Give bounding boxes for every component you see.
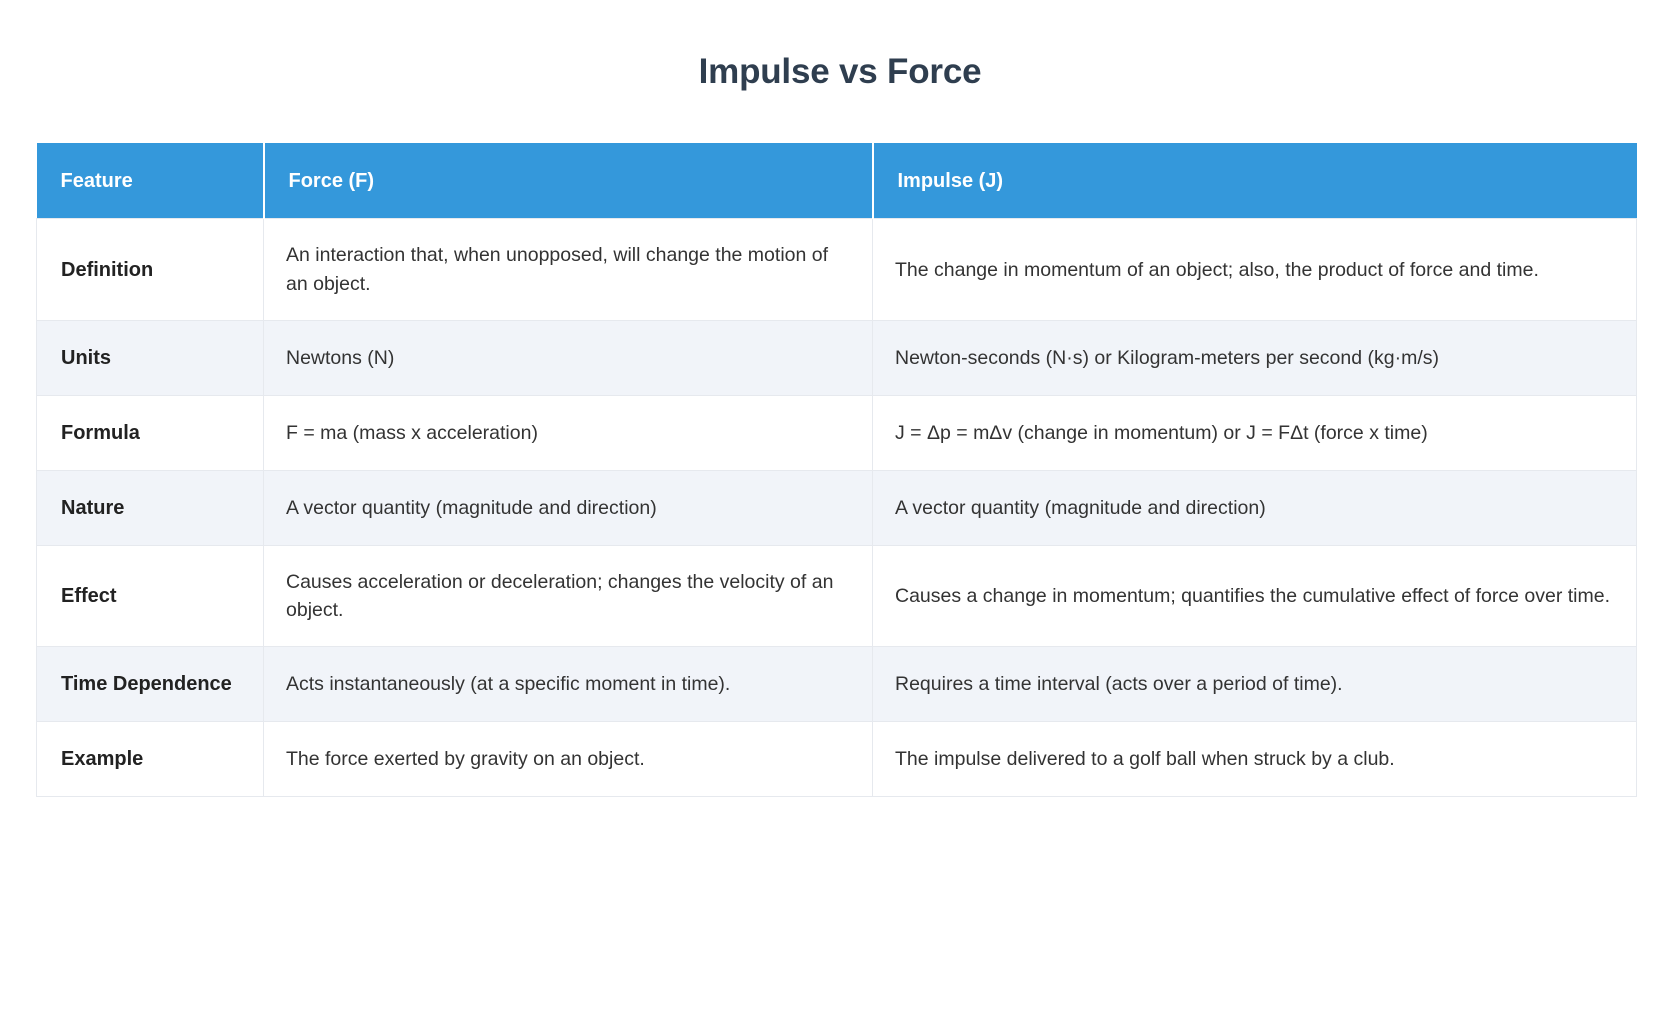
cell-feature: Definition bbox=[37, 219, 264, 321]
comparison-table-container: Feature Force (F) Impulse (J) Definition… bbox=[36, 143, 1636, 798]
comparison-page: Impulse vs Force Feature Force (F) Impul… bbox=[0, 23, 1680, 1025]
cell-force: The force exerted by gravity on an objec… bbox=[264, 722, 873, 797]
table-row: Example The force exerted by gravity on … bbox=[37, 722, 1637, 797]
cell-force: Acts instantaneously (at a specific mome… bbox=[264, 647, 873, 722]
table-body: Definition An interaction that, when uno… bbox=[37, 219, 1637, 797]
table-header: Feature Force (F) Impulse (J) bbox=[37, 143, 1637, 219]
column-header-feature: Feature bbox=[37, 143, 264, 219]
cell-force: F = ma (mass x acceleration) bbox=[264, 395, 873, 470]
cell-feature: Time Dependence bbox=[37, 647, 264, 722]
cell-impulse: The impulse delivered to a golf ball whe… bbox=[873, 722, 1637, 797]
cell-impulse: A vector quantity (magnitude and directi… bbox=[873, 470, 1637, 545]
cell-feature: Nature bbox=[37, 470, 264, 545]
cell-impulse: Newton-seconds (N·s) or Kilogram-meters … bbox=[873, 320, 1637, 395]
cell-impulse: The change in momentum of an object; als… bbox=[873, 219, 1637, 321]
table-row: Formula F = ma (mass x acceleration) J =… bbox=[37, 395, 1637, 470]
table-row: Effect Causes acceleration or decelerati… bbox=[37, 545, 1637, 647]
cell-feature: Units bbox=[37, 320, 264, 395]
column-header-force: Force (F) bbox=[264, 143, 873, 219]
table-row: Nature A vector quantity (magnitude and … bbox=[37, 470, 1637, 545]
cell-feature: Effect bbox=[37, 545, 264, 647]
cell-force: A vector quantity (magnitude and directi… bbox=[264, 470, 873, 545]
table-header-row: Feature Force (F) Impulse (J) bbox=[37, 143, 1637, 219]
column-header-impulse: Impulse (J) bbox=[873, 143, 1637, 219]
cell-force: Causes acceleration or deceleration; cha… bbox=[264, 545, 873, 647]
table-row: Time Dependence Acts instantaneously (at… bbox=[37, 647, 1637, 722]
cell-force: An interaction that, when unopposed, wil… bbox=[264, 219, 873, 321]
cell-feature: Example bbox=[37, 722, 264, 797]
cell-impulse: Causes a change in momentum; quantifies … bbox=[873, 545, 1637, 647]
table-row: Units Newtons (N) Newton-seconds (N·s) o… bbox=[37, 320, 1637, 395]
page-title: Impulse vs Force bbox=[0, 23, 1680, 119]
cell-impulse: Requires a time interval (acts over a pe… bbox=[873, 647, 1637, 722]
cell-feature: Formula bbox=[37, 395, 264, 470]
table-row: Definition An interaction that, when uno… bbox=[37, 219, 1637, 321]
cell-force: Newtons (N) bbox=[264, 320, 873, 395]
impulse-vs-force-table: Feature Force (F) Impulse (J) Definition… bbox=[36, 143, 1637, 798]
cell-impulse: J = Δp = mΔv (change in momentum) or J =… bbox=[873, 395, 1637, 470]
